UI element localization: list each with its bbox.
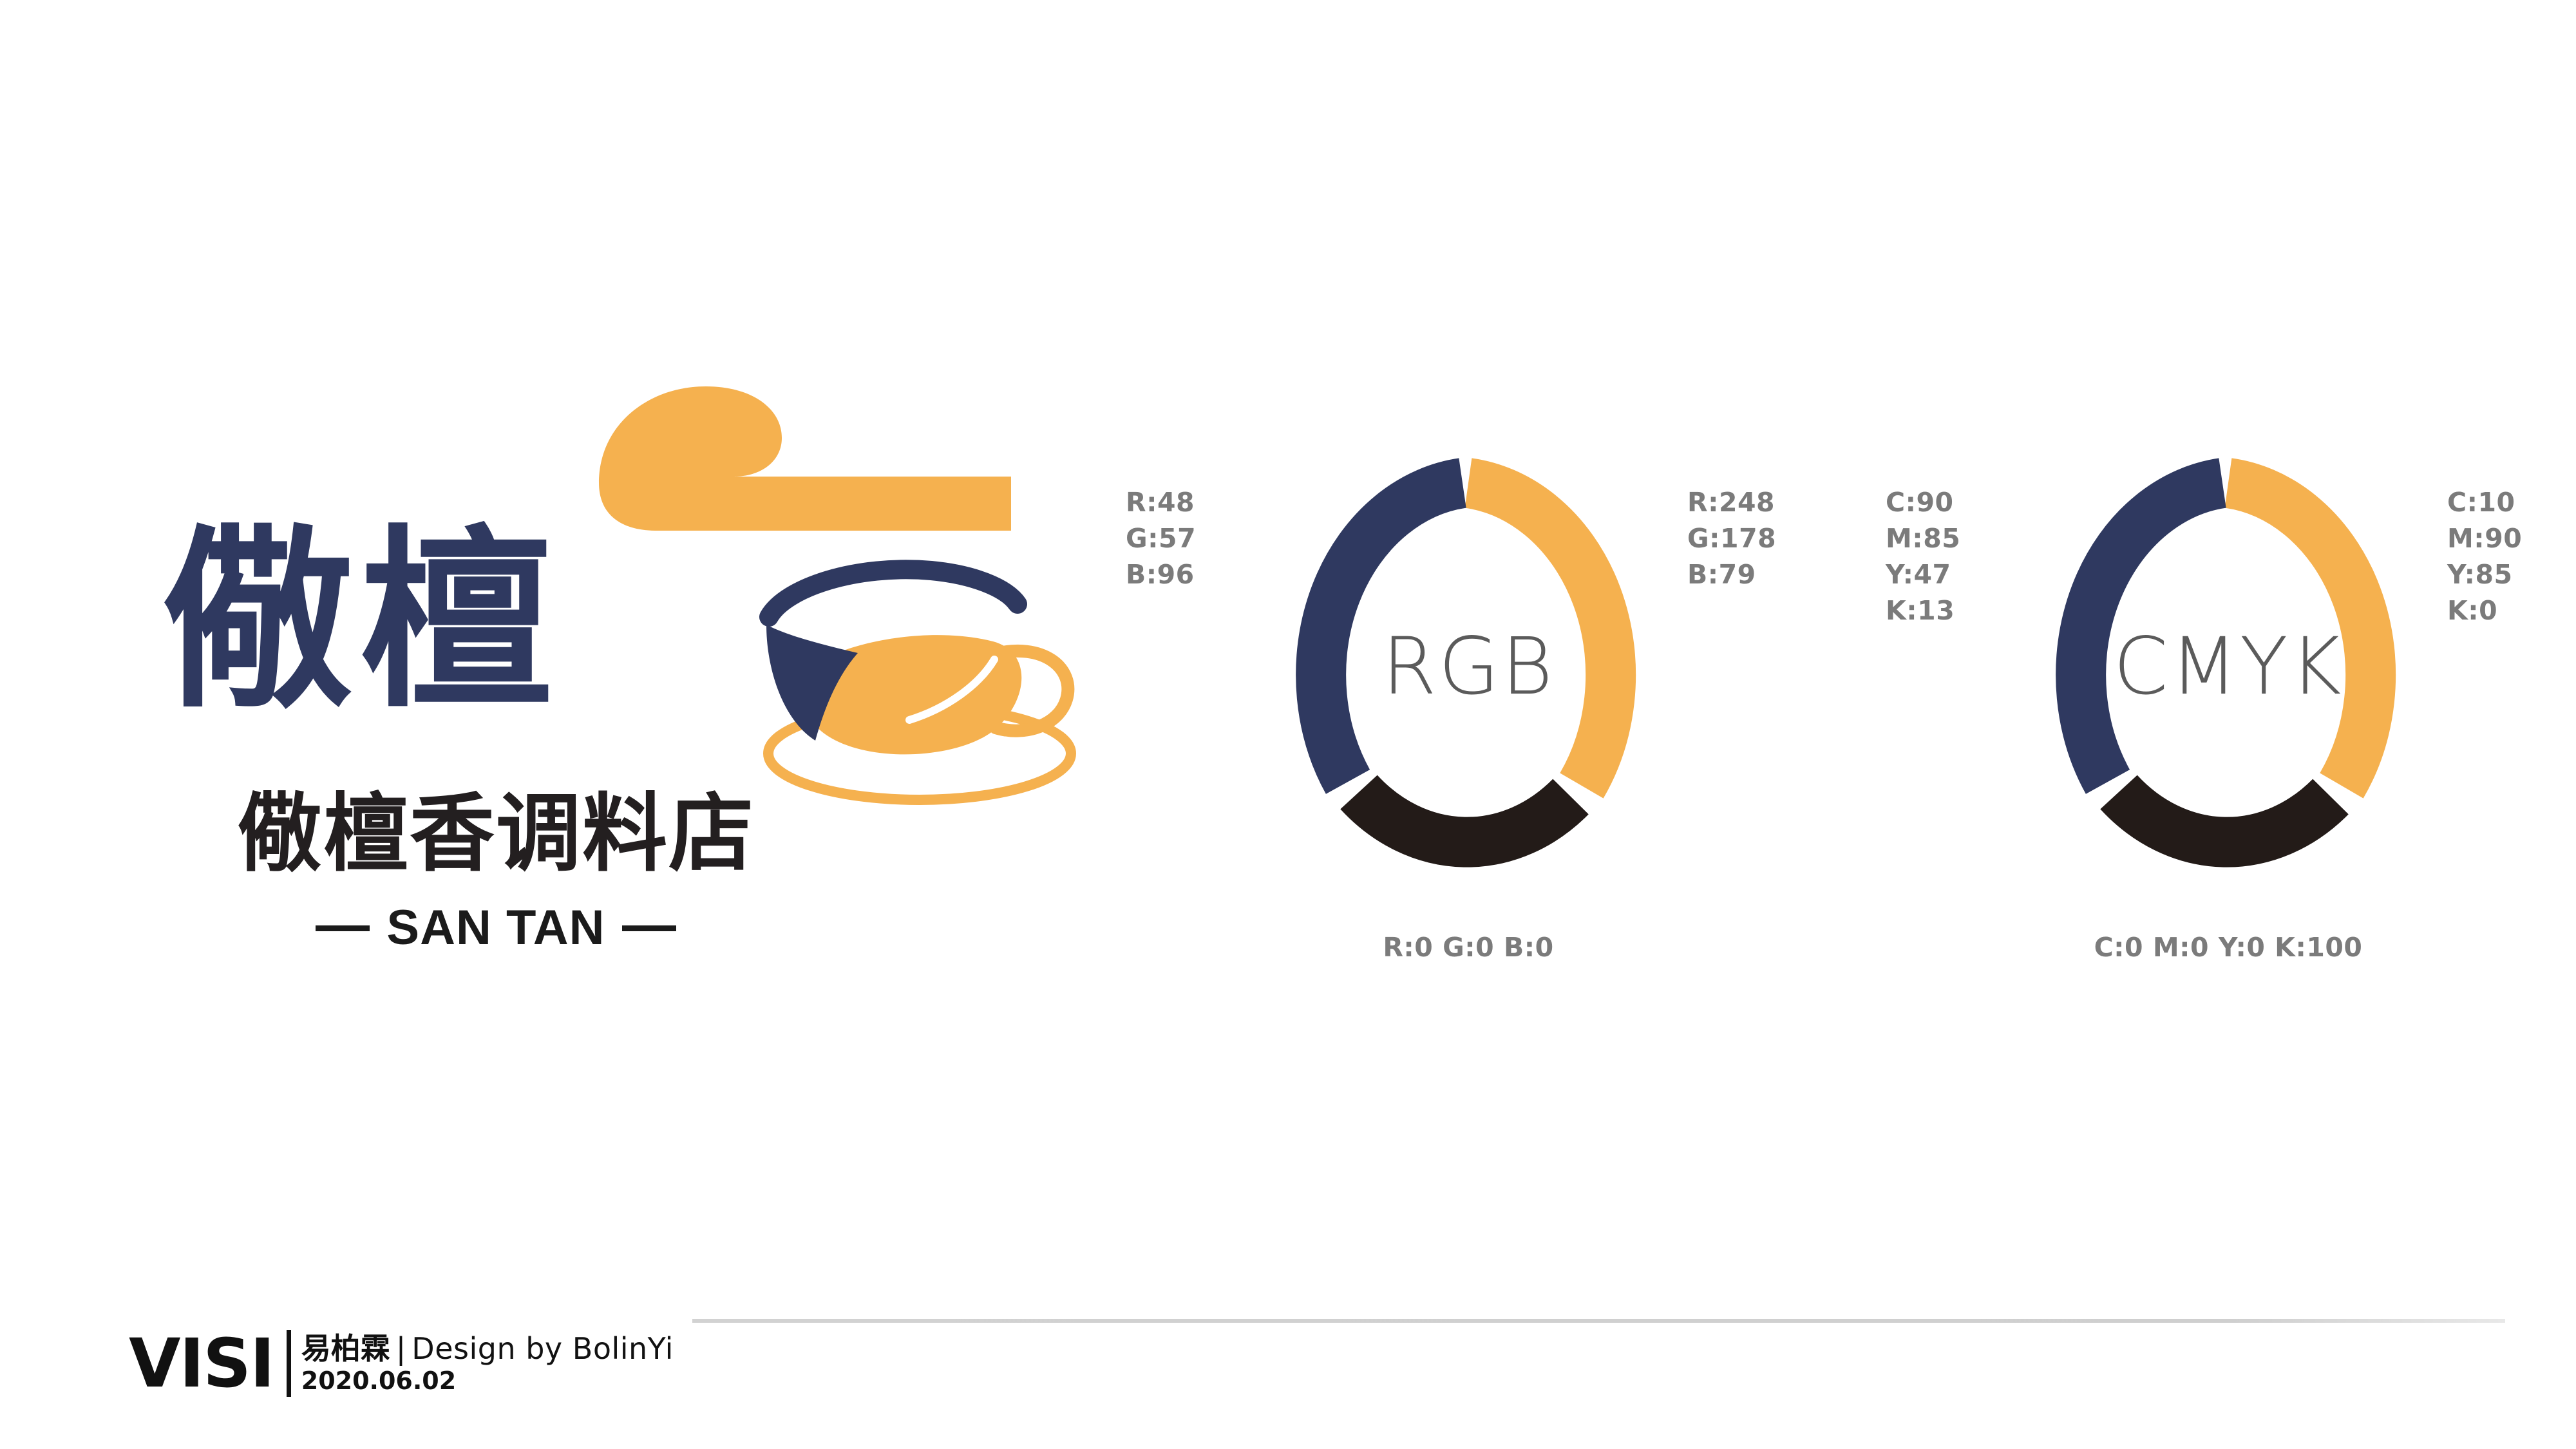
footer-divider xyxy=(692,1319,2505,1323)
cmyk-orange-y: Y:85 xyxy=(2447,556,2522,592)
rgb-navy-b: B:96 xyxy=(1126,556,1196,592)
brand-tagline-row: SAN TAN xyxy=(161,902,831,954)
rgb-orange-g: G:178 xyxy=(1687,520,1776,556)
rgb-navy-values: R:48 G:57 B:96 xyxy=(1126,484,1196,592)
brand-sub-wordmark: 儆檀香调料店 xyxy=(161,786,831,882)
rgb-orange-b: B:79 xyxy=(1687,556,1776,592)
cmyk-donut-chart: CMYK xyxy=(2035,444,2421,908)
rgb-orange-r: R:248 xyxy=(1687,484,1776,520)
rgb-arc-black xyxy=(1359,792,1571,842)
cmyk-navy-k: K:13 xyxy=(1886,592,1960,629)
cup-rim-icon xyxy=(769,569,1018,617)
cmyk-center-label: CMYK xyxy=(2035,625,2421,708)
rgb-orange-values: R:248 G:178 B:79 xyxy=(1687,484,1776,592)
rgb-black-values: R:0 G:0 B:0 xyxy=(1095,931,1842,963)
footer-visi-label: VISI xyxy=(129,1330,274,1397)
cmyk-black-values: C:0 M:0 Y:0 K:100 xyxy=(1855,931,2576,963)
rgb-center-label: RGB xyxy=(1275,625,1662,708)
footer-credit-line: 易柏霖 | Design by BolinYi xyxy=(301,1332,674,1365)
footer-designer-name-cn: 易柏霖 xyxy=(301,1332,390,1365)
coffee-cup-icon xyxy=(741,515,1101,811)
cmyk-orange-m: M:90 xyxy=(2447,520,2522,556)
rgb-navy-g: G:57 xyxy=(1126,520,1196,556)
footer-design-by: Design by BolinYi xyxy=(412,1332,674,1365)
cmyk-navy-m: M:85 xyxy=(1886,520,1960,556)
brand-tagline: SAN TAN xyxy=(386,902,605,954)
cmyk-orange-k: K:0 xyxy=(2447,592,2522,629)
cmyk-navy-values: C:90 M:85 Y:47 K:13 xyxy=(1886,484,1960,629)
footer-pipe-divider xyxy=(287,1330,291,1397)
footer-credit-block: VISI 易柏霖 | Design by BolinYi 2020.06.02 xyxy=(129,1321,674,1405)
tagline-rule-left xyxy=(316,925,370,931)
rgb-navy-r: R:48 xyxy=(1126,484,1196,520)
color-swatch-rgb: R:48 G:57 B:96 R:248 G:178 B:79 RGB R:0 … xyxy=(1095,444,1842,1011)
brand-logo-lockup: 儆檀 儆檀香调料店 SAN TAN xyxy=(161,348,1063,1043)
tagline-rule-right xyxy=(622,925,676,931)
footer-inline-pipe: | xyxy=(396,1332,406,1365)
color-swatch-cmyk: C:90 M:85 Y:47 K:13 C:10 M:90 Y:85 K:0 C… xyxy=(1855,444,2576,1011)
cmyk-navy-y: Y:47 xyxy=(1886,556,1960,592)
cmyk-orange-values: C:10 M:90 Y:85 K:0 xyxy=(2447,484,2522,629)
cmyk-orange-c: C:10 xyxy=(2447,484,2522,520)
brand-wordmark: 儆檀 xyxy=(161,515,741,728)
rgb-donut-chart: RGB xyxy=(1275,444,1662,908)
footer-date: 2020.06.02 xyxy=(301,1367,674,1395)
footer-credit-lines: 易柏霖 | Design by BolinYi 2020.06.02 xyxy=(301,1332,674,1395)
cmyk-navy-c: C:90 xyxy=(1886,484,1960,520)
cmyk-arc-black xyxy=(2119,792,2331,842)
